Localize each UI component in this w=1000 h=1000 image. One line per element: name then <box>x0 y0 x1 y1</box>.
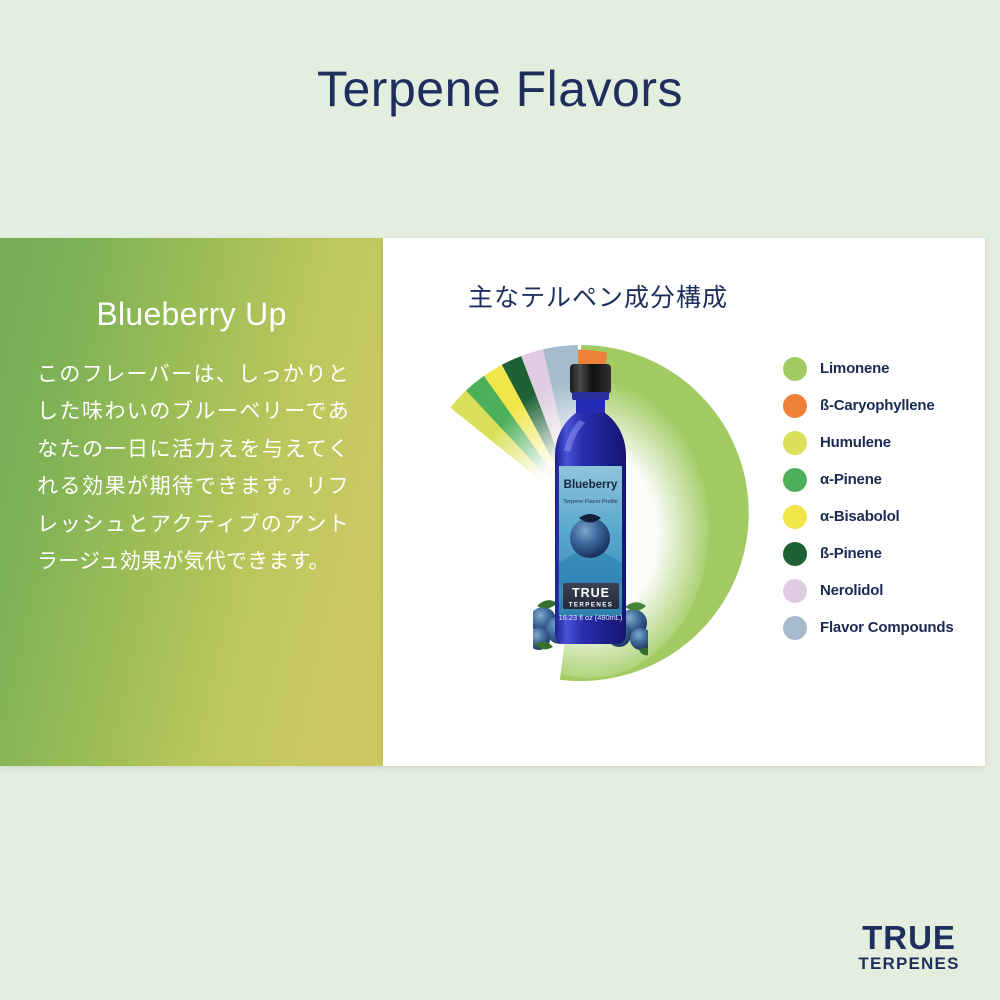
bottle-brand-line1: TRUE <box>572 586 610 600</box>
logo-line1: TRUE <box>862 919 956 956</box>
legend-label: ß-Caryophyllene <box>820 397 935 414</box>
bottle-neck <box>576 399 605 415</box>
flavor-description: このフレーバーは、しっかりとした味わいのブルーベリーであなたの一日に活力えを与え… <box>37 356 349 580</box>
legend-color-swatch-limonene <box>783 357 807 381</box>
legend-label: α-Bisabolol <box>820 508 900 525</box>
bottle-cap <box>570 364 611 394</box>
flavor-title: Blueberry Up <box>0 296 383 333</box>
legend-item: ß-Pinene <box>783 535 983 572</box>
legend-label: Flavor Compounds <box>820 619 953 636</box>
legend-item: Limonene <box>783 350 983 387</box>
legend-item: ß-Caryophyllene <box>783 387 983 424</box>
page-title: Terpene Flavors <box>0 60 1000 118</box>
flavor-panel: Blueberry Up このフレーバーは、しっかりとした味わいのブルーベリーで… <box>0 238 383 766</box>
terpene-pie-chart: Blueberry Terpene Flavor Profile TRUE TE… <box>393 333 768 693</box>
legend-color-swatch-b-caryophyllene <box>783 394 807 418</box>
bottle-subtitle: Terpene Flavor Profile <box>563 499 618 505</box>
legend-item: α-Bisabolol <box>783 498 983 535</box>
legend-color-swatch-a-bisabolol <box>783 505 807 529</box>
legend-label: Limonene <box>820 360 889 377</box>
product-bottle: Blueberry Terpene Flavor Profile TRUE TE… <box>533 358 648 658</box>
chart-card: 主なテルペン成分構成 <box>383 238 985 766</box>
true-terpenes-logo: TRUE TERPENES <box>837 916 982 978</box>
legend-item: α-Pinene <box>783 461 983 498</box>
legend-label: Nerolidol <box>820 582 883 599</box>
legend-item: Humulene <box>783 424 983 461</box>
legend-label: Humulene <box>820 434 891 451</box>
logo-line2: TERPENES <box>858 954 959 973</box>
chart-heading: 主なテルペン成分構成 <box>383 278 813 314</box>
content-band: Blueberry Up このフレーバーは、しっかりとした味わいのブルーベリーで… <box>0 238 1000 766</box>
legend-color-swatch-nerolidol <box>783 579 807 603</box>
legend-color-swatch-a-pinene <box>783 468 807 492</box>
legend-color-swatch-b-pinene <box>783 542 807 566</box>
legend-item: Flavor Compounds <box>783 609 983 646</box>
legend-label: α-Pinene <box>820 471 882 488</box>
legend-color-swatch-flavor-compounds <box>783 616 807 640</box>
chart-legend: Limonene ß-Caryophyllene Humulene α-Pine… <box>783 350 983 646</box>
bottle-volume: 16.23 fl oz (480mL) <box>559 613 623 622</box>
bottle-flavor-name: Blueberry <box>564 479 618 491</box>
legend-color-swatch-humulene <box>783 431 807 455</box>
legend-item: Nerolidol <box>783 572 983 609</box>
bottle-brand-line2: TERPENES <box>569 602 614 609</box>
legend-label: ß-Pinene <box>820 545 882 562</box>
